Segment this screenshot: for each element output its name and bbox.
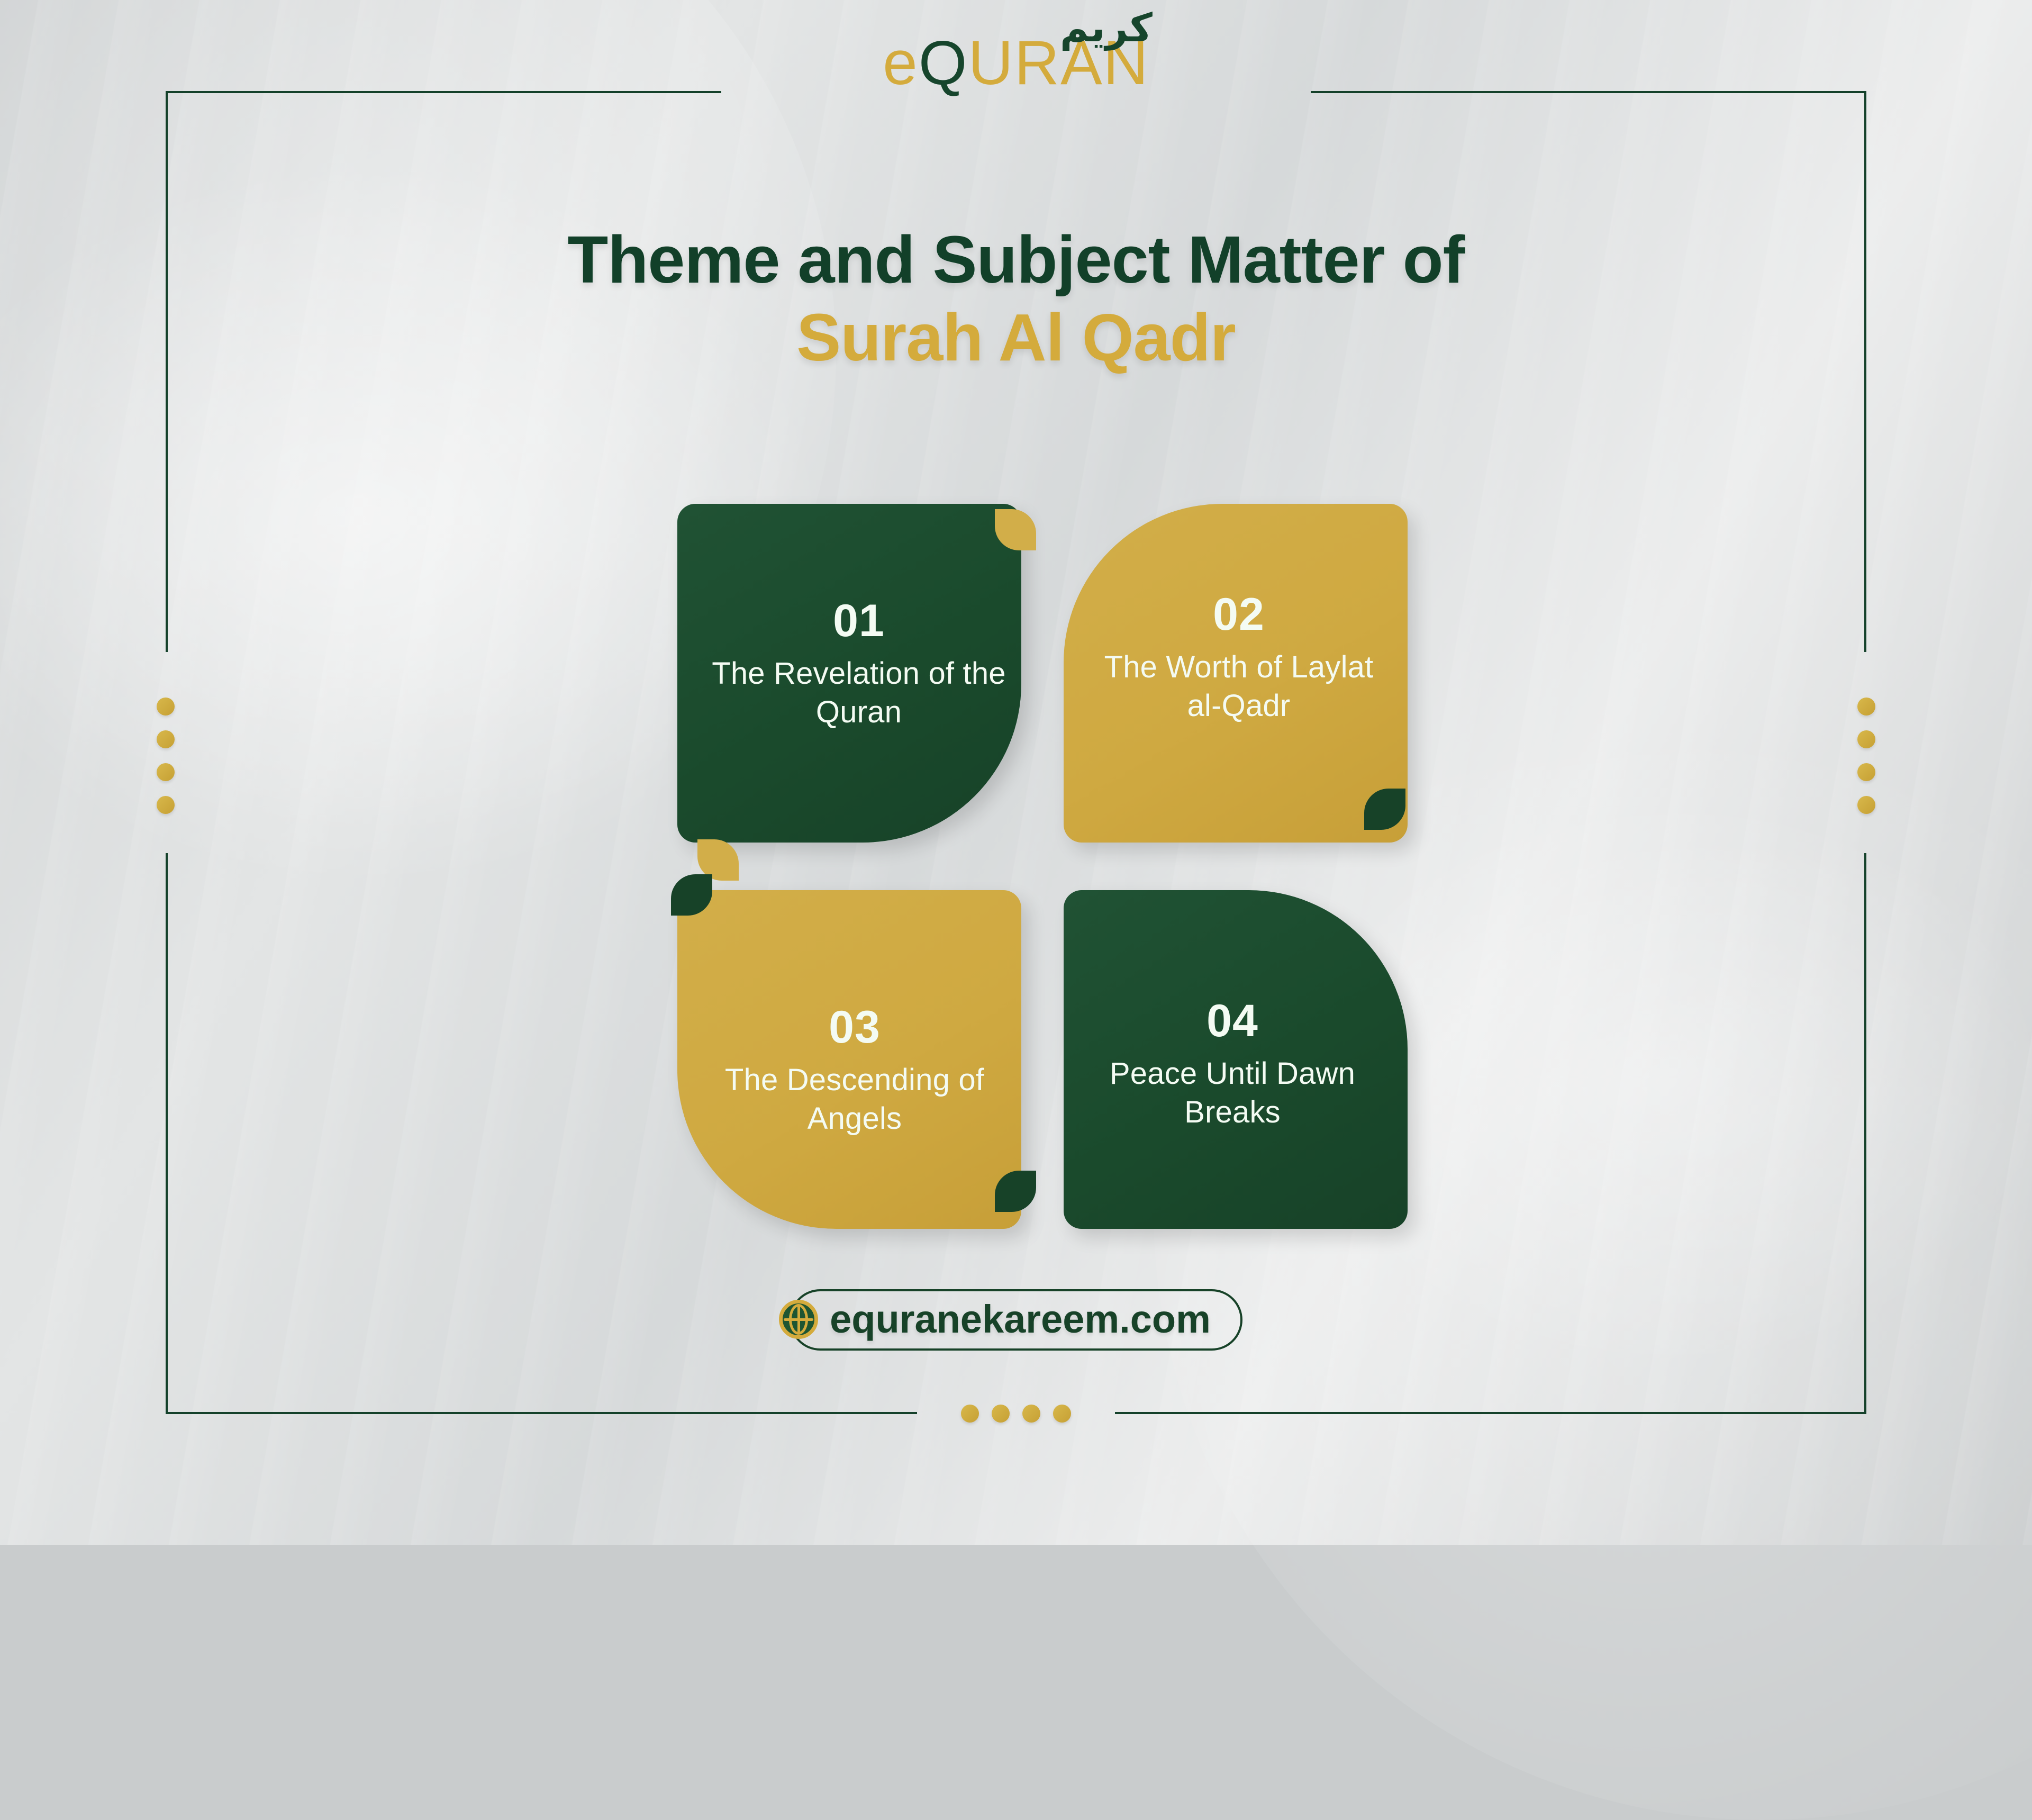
- globe-icon: [779, 1300, 818, 1339]
- theme-card-02[interactable]: 02 The Worth of Laylat al-Qadr: [1064, 504, 1408, 843]
- dot: [1857, 763, 1875, 781]
- brand-arabic-text: كريم: [1060, 8, 1153, 48]
- card-label: Peace Until Dawn Breaks: [1078, 1054, 1386, 1131]
- brand-letter-q: Q: [919, 28, 968, 98]
- brand-letter-e: e: [883, 28, 919, 98]
- dot: [157, 730, 175, 748]
- globe-meridian: [789, 1304, 808, 1335]
- theme-card-01[interactable]: 01 The Revelation of the Quran: [677, 504, 1021, 843]
- dot: [1857, 730, 1875, 748]
- card-label: The Descending of Angels: [701, 1061, 1009, 1138]
- dot: [1857, 796, 1875, 814]
- dot: [157, 763, 175, 781]
- footer: equranekareem.com: [0, 1289, 2032, 1351]
- website-url-text: equranekareem.com: [830, 1300, 1211, 1339]
- card-number: 02: [1213, 592, 1265, 637]
- title-line-primary: Theme and Subject Matter of: [0, 222, 2032, 297]
- brand-logo: كريم eQURAN: [0, 32, 2032, 132]
- dot: [961, 1405, 979, 1423]
- decorative-dots-bottom: [961, 1405, 1072, 1424]
- website-url-badge[interactable]: equranekareem.com: [790, 1289, 1242, 1351]
- dot: [992, 1405, 1010, 1423]
- dot: [1053, 1405, 1071, 1423]
- title-line-secondary: Surah Al Qadr: [0, 300, 2032, 375]
- card-number: 01: [833, 598, 885, 644]
- dot: [1022, 1405, 1040, 1423]
- card-number: 04: [1206, 998, 1258, 1044]
- card-label: The Worth of Laylat al-Qadr: [1085, 648, 1393, 725]
- theme-card-03[interactable]: 03 The Descending of Angels: [677, 890, 1021, 1229]
- theme-card-04[interactable]: 04 Peace Until Dawn Breaks: [1064, 890, 1408, 1229]
- card-number: 03: [829, 1004, 881, 1050]
- theme-card-grid: 01 The Revelation of the Quran 02 The Wo…: [677, 504, 1408, 1229]
- dot: [157, 796, 175, 814]
- page-title: Theme and Subject Matter of Surah Al Qad…: [0, 222, 2032, 375]
- dot: [157, 698, 175, 716]
- dot: [1857, 698, 1875, 716]
- card-label: The Revelation of the Quran: [705, 654, 1013, 731]
